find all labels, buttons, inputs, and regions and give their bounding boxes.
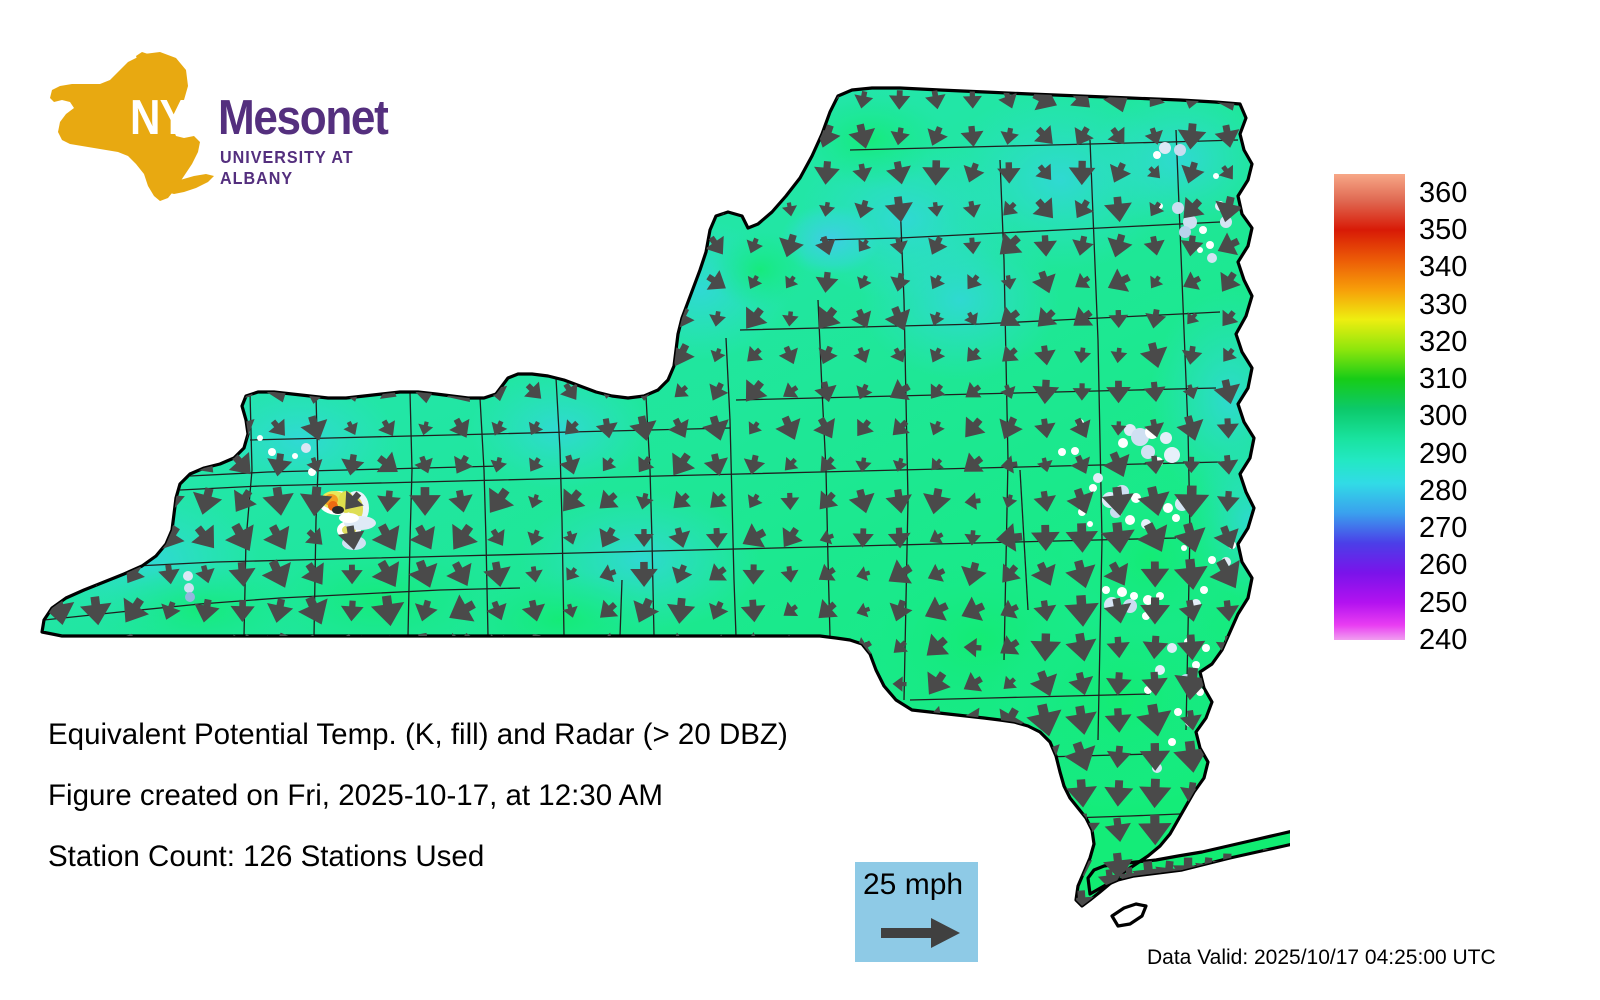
wind-arrow bbox=[85, 381, 108, 402]
wind-arrow bbox=[230, 305, 255, 332]
wind-arrow bbox=[194, 344, 218, 367]
wind-arrow bbox=[50, 235, 70, 256]
wind-arrow bbox=[226, 194, 259, 226]
wind-arrow bbox=[524, 673, 544, 694]
wind-arrow bbox=[193, 122, 219, 150]
wind-arrow bbox=[1249, 888, 1281, 918]
wind-arrow bbox=[409, 193, 441, 227]
wind-arrow bbox=[741, 125, 766, 149]
wind-arrow bbox=[376, 124, 401, 149]
wind-arrow bbox=[524, 90, 545, 109]
wind-arrow bbox=[447, 671, 476, 698]
wind-arrow bbox=[444, 83, 478, 116]
wind-arrow bbox=[1211, 777, 1246, 809]
wind-arrow bbox=[44, 487, 76, 516]
colorbar-tick-360: 360 bbox=[1419, 179, 1467, 208]
wind-arrow bbox=[300, 303, 330, 334]
wind-arrow bbox=[1251, 379, 1277, 404]
wind-arrow bbox=[411, 306, 439, 332]
wind-arrow bbox=[594, 270, 621, 295]
wind-arrow bbox=[560, 345, 582, 366]
wind-arrow bbox=[705, 125, 729, 148]
wind-arrow bbox=[305, 273, 326, 292]
wind-arrow bbox=[518, 156, 551, 191]
wind-arrow bbox=[159, 456, 179, 475]
wind-arrow bbox=[597, 198, 619, 220]
caption-station-count: Station Count: 126 Stations Used bbox=[48, 840, 948, 874]
wind-arrow bbox=[522, 196, 547, 223]
wind-arrow bbox=[267, 307, 290, 331]
wind-arrow bbox=[158, 125, 180, 149]
wind-arrow bbox=[337, 670, 367, 698]
wind-arrow bbox=[997, 890, 1022, 916]
wind-arrow bbox=[632, 161, 657, 184]
wind-arrow bbox=[663, 155, 699, 190]
wind-arrow bbox=[1211, 669, 1245, 700]
wind-arrow bbox=[700, 84, 734, 117]
wind-arrow bbox=[49, 418, 72, 439]
wind-arrow bbox=[52, 346, 69, 364]
wind-arrow bbox=[1247, 704, 1283, 737]
wind-arrow bbox=[706, 163, 728, 184]
wind-arrow bbox=[1032, 818, 1059, 842]
wind-arrow bbox=[738, 668, 769, 700]
colorbar-tick-270: 270 bbox=[1419, 514, 1467, 543]
wind-arrow bbox=[1254, 199, 1275, 219]
wind-arrow bbox=[488, 89, 508, 111]
wind-arrow bbox=[1249, 304, 1281, 335]
colorbar-tick-290: 290 bbox=[1419, 440, 1467, 469]
wind-arrow bbox=[631, 123, 658, 150]
data-valid-timestamp: Data Valid: 2025/10/17 04:25:00 UTC bbox=[1147, 946, 1496, 970]
wind-arrow bbox=[449, 308, 473, 331]
wind-arrow bbox=[413, 234, 438, 258]
wind-arrow bbox=[232, 162, 253, 184]
colorbar-gradient-strip bbox=[1334, 174, 1405, 640]
wind-arrow bbox=[662, 228, 699, 264]
wind-arrow bbox=[152, 265, 187, 299]
wind-arrow bbox=[635, 676, 653, 693]
wind-arrow bbox=[46, 306, 73, 331]
wind-arrow bbox=[377, 235, 399, 257]
wind-arrow bbox=[1210, 741, 1245, 774]
wind-arrow bbox=[558, 124, 584, 148]
wind-arrow bbox=[82, 158, 111, 188]
wind-arrow bbox=[196, 199, 216, 220]
wind-arrow bbox=[306, 346, 324, 365]
wind-arrow bbox=[628, 303, 660, 334]
wind-legend-label: 25 mph bbox=[863, 868, 963, 902]
wind-arrow bbox=[82, 414, 111, 444]
wind-arrow bbox=[1250, 634, 1280, 661]
wind-arrow bbox=[114, 666, 152, 701]
wind-arrow bbox=[123, 90, 143, 110]
wind-arrow bbox=[593, 305, 622, 332]
wind-arrow bbox=[416, 274, 435, 291]
wind-arrow bbox=[189, 303, 223, 335]
colorbar-tick-310: 310 bbox=[1419, 365, 1467, 394]
wind-arrow bbox=[305, 198, 325, 220]
wind-arrow bbox=[410, 85, 441, 115]
caption-title: Equivalent Potential Temp. (K, fill) and… bbox=[48, 718, 948, 752]
wind-arrow bbox=[407, 154, 443, 192]
wind-arrow bbox=[49, 197, 71, 221]
wind-arrow bbox=[1028, 850, 1063, 882]
wind-arrow bbox=[226, 668, 259, 700]
wind-arrow bbox=[705, 634, 729, 660]
wind-arrow bbox=[158, 306, 182, 332]
wind-arrow bbox=[488, 310, 508, 328]
wind-arrow bbox=[37, 552, 82, 597]
caption-created: Figure created on Fri, 2025-10-17, at 12… bbox=[48, 779, 948, 813]
wind-arrow bbox=[376, 270, 402, 294]
wind-arrow bbox=[85, 88, 108, 112]
wind-arrow bbox=[341, 199, 363, 220]
wind-arrow bbox=[560, 672, 582, 695]
wind-arrow bbox=[411, 121, 440, 151]
wind-arrow bbox=[1250, 853, 1279, 880]
wind-arrow bbox=[628, 86, 659, 115]
wind-arrow bbox=[631, 344, 656, 368]
colorbar-tick-340: 340 bbox=[1419, 253, 1467, 282]
wind-arrow bbox=[628, 194, 659, 224]
wind-arrow bbox=[631, 233, 657, 259]
wind-arrow bbox=[1252, 88, 1278, 112]
colorbar-tick-250: 250 bbox=[1419, 589, 1467, 618]
wind-arrow bbox=[82, 670, 111, 697]
wind-arrow bbox=[599, 348, 616, 363]
colorbar-tick-labels: 360350340330320310300290280270260250240 bbox=[1419, 174, 1559, 640]
wind-arrow bbox=[960, 744, 986, 770]
wind-speed-legend: 25 mph bbox=[855, 862, 978, 962]
wind-arrow bbox=[345, 238, 359, 254]
wind-arrow bbox=[43, 119, 77, 155]
wind-arrow bbox=[669, 671, 692, 696]
wind-arrow bbox=[261, 119, 297, 154]
wind-arrow bbox=[1251, 599, 1278, 624]
wind-arrow bbox=[297, 667, 334, 702]
wind-arrow bbox=[375, 306, 401, 332]
wind-arrow bbox=[124, 199, 143, 220]
wind-arrow bbox=[297, 154, 334, 191]
wind-arrow bbox=[224, 337, 262, 375]
wind-arrow bbox=[122, 307, 144, 331]
wind-arrow bbox=[196, 272, 216, 293]
wind-arrow bbox=[152, 192, 188, 227]
wind-arrow bbox=[342, 273, 362, 292]
wind-arrow bbox=[80, 120, 113, 153]
wind-arrow bbox=[961, 781, 984, 806]
wind-arrow bbox=[338, 342, 367, 368]
wind-arrow bbox=[84, 269, 109, 296]
wind-arrow bbox=[80, 484, 113, 519]
wind-arrow bbox=[198, 237, 214, 254]
wind-arrow bbox=[779, 90, 801, 111]
wind-arrow bbox=[662, 191, 699, 228]
wind-arrow bbox=[231, 125, 254, 148]
wind-arrow bbox=[153, 668, 186, 700]
wind-arrow bbox=[736, 156, 771, 190]
wind-arrow bbox=[664, 83, 697, 116]
wind-arrow bbox=[487, 272, 509, 292]
wind-arrow bbox=[268, 272, 289, 292]
wind-arrow bbox=[486, 124, 511, 149]
wind-arrow bbox=[375, 159, 403, 187]
wind-arrow bbox=[263, 668, 295, 700]
wind-arrow bbox=[1248, 779, 1280, 808]
wind-arrow bbox=[411, 341, 439, 369]
wind-arrow bbox=[446, 194, 477, 224]
wind-arrow bbox=[48, 270, 72, 295]
wind-arrow bbox=[780, 127, 801, 147]
wind-arrow bbox=[1213, 816, 1243, 844]
wind-arrow bbox=[631, 270, 658, 295]
wind-arrow bbox=[597, 126, 618, 148]
wind-arrow bbox=[84, 234, 109, 258]
wind-arrow bbox=[373, 668, 404, 700]
wind-arrow bbox=[194, 673, 219, 696]
wind-arrow bbox=[557, 306, 585, 333]
wind-arrow bbox=[123, 162, 142, 183]
wind-arrow bbox=[334, 118, 371, 156]
wind-arrow bbox=[1250, 671, 1278, 697]
wind-arrow bbox=[479, 191, 517, 228]
wind-arrow bbox=[38, 662, 82, 706]
wind-arrow bbox=[1251, 453, 1277, 477]
wind-arrow bbox=[556, 268, 585, 297]
wind-arrow bbox=[50, 90, 70, 110]
wind-arrow bbox=[269, 163, 289, 184]
wind-arrow bbox=[993, 849, 1026, 883]
wind-arrow bbox=[596, 162, 620, 185]
wind-arrow bbox=[261, 81, 297, 118]
wind-arrow bbox=[557, 87, 585, 114]
wind-arrow bbox=[446, 231, 478, 261]
wind-arrow bbox=[778, 672, 801, 696]
wind-arrow bbox=[234, 91, 251, 109]
wind-arrow bbox=[633, 636, 656, 660]
caption-block: Equivalent Potential Temp. (K, fill) and… bbox=[48, 718, 948, 901]
wind-arrow bbox=[342, 89, 361, 110]
wind-arrow bbox=[1251, 233, 1278, 259]
wind-arrow bbox=[736, 82, 772, 118]
wind-arrow bbox=[521, 269, 549, 296]
wind-arrow bbox=[1248, 559, 1281, 589]
wind-arrow bbox=[124, 127, 143, 146]
wind-arrow bbox=[1252, 125, 1277, 148]
wind-arrow bbox=[554, 157, 588, 189]
wind-arrow bbox=[962, 819, 984, 841]
wind-arrow bbox=[156, 232, 182, 260]
wind-arrow bbox=[198, 383, 214, 400]
colorbar-tick-260: 260 bbox=[1419, 551, 1467, 580]
wind-arrow bbox=[118, 413, 149, 444]
wind-arrow bbox=[816, 637, 837, 659]
colorbar: 360350340330320310300290280270260250240 bbox=[1334, 174, 1564, 644]
wind-arrow bbox=[998, 818, 1019, 841]
wind-arrow bbox=[447, 341, 477, 369]
wind-arrow bbox=[483, 670, 512, 698]
wind-arrow bbox=[77, 519, 115, 557]
wind-arrow bbox=[519, 121, 550, 153]
wind-arrow bbox=[1215, 708, 1241, 732]
wind-arrow bbox=[451, 164, 471, 183]
wind-arrow bbox=[557, 195, 585, 225]
wind-arrow bbox=[46, 524, 75, 552]
wind-arrow bbox=[269, 346, 288, 364]
wind-arrow bbox=[1255, 165, 1274, 182]
wind-arrow bbox=[378, 198, 398, 220]
wind-arrow bbox=[306, 90, 324, 110]
wind-arrow bbox=[443, 264, 481, 301]
wind-arrow bbox=[1252, 416, 1278, 441]
wind-arrow bbox=[198, 91, 215, 109]
wind-arrow bbox=[451, 126, 471, 146]
wind-arrow bbox=[996, 780, 1021, 806]
wind-arrow bbox=[50, 163, 71, 184]
wind-arrow bbox=[86, 344, 108, 368]
colorbar-tick-300: 300 bbox=[1419, 402, 1467, 431]
wind-arrow bbox=[1033, 891, 1059, 914]
wind-arrow bbox=[115, 521, 152, 556]
colorbar-tick-330: 330 bbox=[1419, 291, 1467, 320]
wind-arrow bbox=[191, 159, 220, 187]
wind-arrow bbox=[1247, 521, 1282, 554]
wind-arrow bbox=[44, 450, 77, 481]
wind-arrow bbox=[812, 668, 841, 699]
wind-arrow bbox=[1032, 781, 1058, 805]
wind-arrow bbox=[159, 89, 180, 111]
wind-arrow bbox=[994, 742, 1023, 772]
wind-arrow bbox=[298, 229, 332, 264]
wind-arrow bbox=[111, 479, 155, 523]
wind-arrow bbox=[523, 234, 545, 258]
wind-arrow bbox=[593, 231, 623, 261]
wind-arrow bbox=[484, 160, 511, 186]
wind-arrow bbox=[555, 230, 586, 261]
wind-arrow bbox=[47, 379, 72, 405]
wind-arrow bbox=[592, 669, 623, 698]
wind-arrow bbox=[152, 374, 186, 409]
wind-arrow bbox=[85, 197, 108, 222]
wind-arrow bbox=[119, 377, 147, 406]
wind-arrow bbox=[1248, 742, 1281, 773]
wind-arrow bbox=[265, 233, 294, 260]
colorbar-tick-240: 240 bbox=[1419, 626, 1467, 655]
wind-arrow bbox=[487, 235, 510, 257]
wind-arrow bbox=[488, 345, 508, 366]
wind-arrow bbox=[80, 303, 112, 334]
wind-arrow bbox=[1173, 886, 1211, 921]
wind-arrow bbox=[338, 305, 366, 332]
colorbar-tick-350: 350 bbox=[1419, 216, 1467, 245]
wind-arrow bbox=[122, 271, 143, 294]
wind-arrow bbox=[115, 227, 151, 264]
wind-arrow bbox=[192, 635, 219, 660]
wind-arrow bbox=[46, 634, 75, 661]
colorbar-tick-280: 280 bbox=[1419, 477, 1467, 506]
wind-arrow bbox=[340, 161, 364, 185]
wind-arrow bbox=[192, 414, 219, 442]
colorbar-tick-320: 320 bbox=[1419, 328, 1467, 357]
wind-arrow bbox=[371, 82, 406, 118]
wind-arrow bbox=[88, 458, 104, 473]
wind-arrow bbox=[525, 346, 544, 364]
wind-arrow bbox=[121, 344, 146, 367]
wind-arrow bbox=[159, 418, 180, 438]
wind-arrow bbox=[160, 163, 179, 183]
wind-arrow bbox=[407, 667, 443, 701]
wind-arrow bbox=[375, 343, 402, 368]
wind-arrow bbox=[305, 126, 325, 147]
wind-arrow bbox=[158, 344, 180, 366]
wind-arrow bbox=[1213, 890, 1242, 917]
wind-arrow bbox=[233, 235, 253, 256]
wind-arrow bbox=[1250, 341, 1280, 370]
wind-arrow bbox=[524, 309, 546, 330]
wind-arrow bbox=[666, 121, 696, 152]
wind-arrow bbox=[709, 675, 725, 692]
wind-arrow-icon bbox=[881, 916, 961, 950]
wind-arrow bbox=[592, 84, 623, 116]
wind-arrow bbox=[269, 199, 289, 219]
wind-arrow bbox=[233, 272, 252, 292]
wind-arrow bbox=[120, 453, 145, 477]
